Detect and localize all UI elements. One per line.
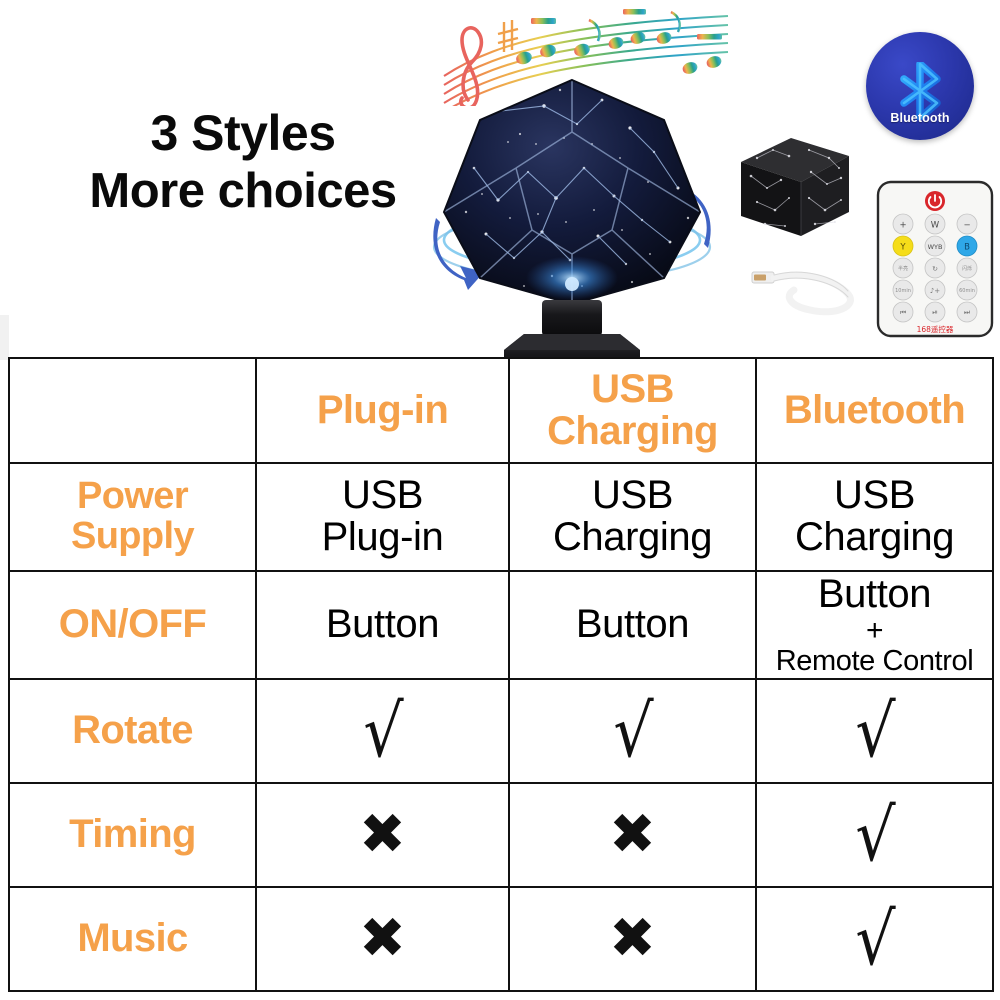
- header-cell-blank: [9, 358, 256, 463]
- cell-onoff-bluetooth: Button + Remote Control: [756, 571, 993, 679]
- svg-text:↻: ↻: [932, 265, 938, 273]
- table-row: Music ✖ ✖ √: [9, 887, 993, 991]
- svg-text:Y: Y: [899, 243, 906, 253]
- svg-text:闪烁: 闪烁: [962, 265, 972, 272]
- cell-onoff-plugin-l1: Button: [326, 602, 439, 646]
- check-icon: √: [854, 903, 896, 975]
- page-title: 3 Styles More choices: [48, 104, 438, 221]
- star-projector-lamp: [432, 72, 712, 357]
- row-power-line2: Supply: [71, 515, 194, 557]
- table-row: Power Supply USB Plug-in USB Charging: [9, 463, 993, 571]
- svg-text:B: B: [964, 243, 970, 253]
- cell-onoff-bt-l1: Button: [818, 572, 931, 616]
- row-timing-label: Timing: [69, 812, 196, 856]
- table-row: ON/OFF Button Button Button +: [9, 571, 993, 679]
- cell-power-bt-l2: Charging: [795, 515, 954, 559]
- row-music-label: Music: [77, 916, 187, 960]
- svg-text:60min: 60min: [959, 288, 975, 294]
- remote-model-label: 168遥控器: [917, 324, 954, 334]
- table-header-row: Plug-in USB Charging Bluetooth: [9, 358, 993, 463]
- cross-icon: ✖: [359, 807, 406, 863]
- infographic-page: 3 Styles More choices: [0, 0, 1000, 1000]
- cross-icon: ✖: [609, 807, 656, 863]
- cell-onoff-usb-l1: Button: [576, 602, 689, 646]
- row-label-music: Music: [9, 887, 256, 991]
- usb-cable: [748, 250, 868, 320]
- cell-rotate-plugin: √: [256, 679, 509, 783]
- cell-music-usb: ✖: [509, 887, 756, 991]
- remote-control: + W − Y WYB B 半亮 闪烁 10min 60min ↻ ♪+ ⏮: [876, 180, 994, 338]
- header-cell-bluetooth: Bluetooth: [756, 358, 993, 463]
- cross-icon: ✖: [609, 911, 656, 967]
- cell-music-plugin: ✖: [256, 887, 509, 991]
- header-usb-line1: USB: [591, 367, 674, 411]
- svg-text:⏮: ⏮: [900, 309, 906, 317]
- cell-timing-usb: ✖: [509, 783, 756, 887]
- cell-power-usb: USB Charging: [509, 463, 756, 571]
- cell-timing-plugin: ✖: [256, 783, 509, 887]
- cell-power-bluetooth: USB Charging: [756, 463, 993, 571]
- cell-onoff-usb: Button: [509, 571, 756, 679]
- cell-onoff-plugin: Button: [256, 571, 509, 679]
- row-label-power-supply: Power Supply: [9, 463, 256, 571]
- check-icon: √: [854, 695, 896, 767]
- headline-line-2: More choices: [48, 163, 438, 221]
- cross-icon: ✖: [359, 911, 406, 967]
- row-label-timing: Timing: [9, 783, 256, 887]
- cell-onoff-bt-plus: +: [757, 616, 992, 646]
- bluetooth-badge: Bluetooth: [866, 32, 974, 140]
- row-power-line1: Power: [77, 475, 188, 517]
- header-plugin-label: Plug-in: [317, 388, 448, 432]
- svg-text:⏯: ⏯: [932, 309, 938, 317]
- hero-section: 3 Styles More choices: [0, 0, 1000, 357]
- cell-power-plugin-l1: USB: [342, 473, 423, 517]
- table-row: Rotate √ √ √: [9, 679, 993, 783]
- check-icon: √: [854, 799, 896, 871]
- constellation-gift-box: [735, 132, 855, 242]
- row-rotate-label: Rotate: [72, 708, 193, 752]
- svg-text:10min: 10min: [895, 288, 911, 294]
- svg-text:WYB: WYB: [928, 243, 943, 251]
- svg-text:♪+: ♪+: [930, 287, 940, 295]
- svg-text:W: W: [931, 221, 940, 231]
- cell-power-plugin: USB Plug-in: [256, 463, 509, 571]
- cell-power-usb-l1: USB: [592, 473, 673, 517]
- table-row: Timing ✖ ✖ √: [9, 783, 993, 887]
- check-icon: √: [362, 695, 404, 767]
- svg-text:+: +: [899, 221, 906, 231]
- cell-onoff-bt-l3: Remote Control: [757, 646, 992, 676]
- svg-text:⏭: ⏭: [964, 309, 971, 317]
- svg-text:−: −: [963, 221, 970, 231]
- header-usb-line2: Charging: [547, 409, 718, 453]
- row-label-onoff: ON/OFF: [9, 571, 256, 679]
- header-cell-usb-charging: USB Charging: [509, 358, 756, 463]
- cell-power-usb-l2: Charging: [553, 515, 712, 559]
- headline-line-1: 3 Styles: [48, 104, 438, 163]
- check-icon: √: [612, 695, 654, 767]
- comparison-table: Plug-in USB Charging Bluetooth: [8, 357, 994, 992]
- header-cell-plugin: Plug-in: [256, 358, 509, 463]
- row-onoff-label: ON/OFF: [59, 602, 207, 646]
- cell-rotate-usb: √: [509, 679, 756, 783]
- cell-timing-bluetooth: √: [756, 783, 993, 887]
- cell-rotate-bluetooth: √: [756, 679, 993, 783]
- svg-text:半亮: 半亮: [898, 265, 908, 272]
- bluetooth-badge-label: Bluetooth: [866, 111, 974, 125]
- cell-music-bluetooth: √: [756, 887, 993, 991]
- cell-power-plugin-l2: Plug-in: [322, 515, 444, 559]
- header-bluetooth-label: Bluetooth: [784, 388, 965, 432]
- row-label-rotate: Rotate: [9, 679, 256, 783]
- cell-power-bt-l1: USB: [834, 473, 915, 517]
